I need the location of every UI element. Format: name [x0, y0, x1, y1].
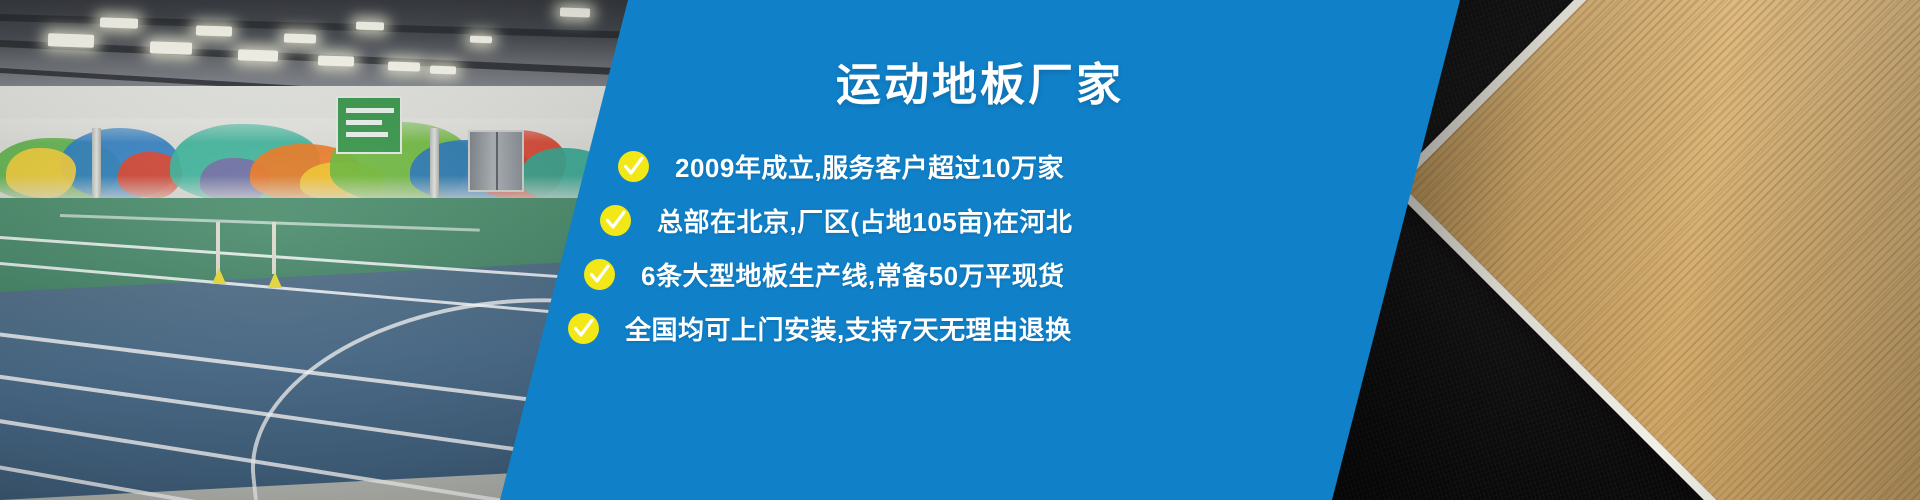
check-circle-icon	[584, 259, 615, 290]
list-item-label: 2009年成立,服务客户超过10万家	[675, 148, 1064, 185]
list-item: 全国均可上门安装,支持7天无理由退换	[568, 302, 1278, 354]
check-circle-icon	[618, 151, 649, 182]
check-circle-icon	[568, 313, 599, 344]
list-item-label: 总部在北京,厂区(占地105亩)在河北	[657, 202, 1072, 239]
list-item: 总部在北京,厂区(占地105亩)在河北	[600, 194, 1278, 246]
list-item: 6条大型地板生产线,常备50万平现货	[584, 248, 1278, 300]
page-title: 运动地板厂家	[700, 62, 1260, 107]
panel-content: 运动地板厂家 2009年成立,服务客户超过10万家	[500, 0, 1460, 500]
check-circle-icon	[600, 205, 631, 236]
sports-flooring-banner: 运动地板厂家 2009年成立,服务客户超过10万家	[0, 0, 1920, 500]
list-item: 2009年成立,服务客户超过10万家	[618, 140, 1278, 192]
list-item-label: 6条大型地板生产线,常备50万平现货	[641, 256, 1065, 293]
blue-message-panel: 运动地板厂家 2009年成立,服务客户超过10万家	[500, 0, 1460, 500]
list-item-label: 全国均可上门安装,支持7天无理由退换	[625, 310, 1072, 347]
selling-points-list: 2009年成立,服务客户超过10万家 总部在北京,厂区(占地105亩)在河北	[578, 140, 1278, 356]
